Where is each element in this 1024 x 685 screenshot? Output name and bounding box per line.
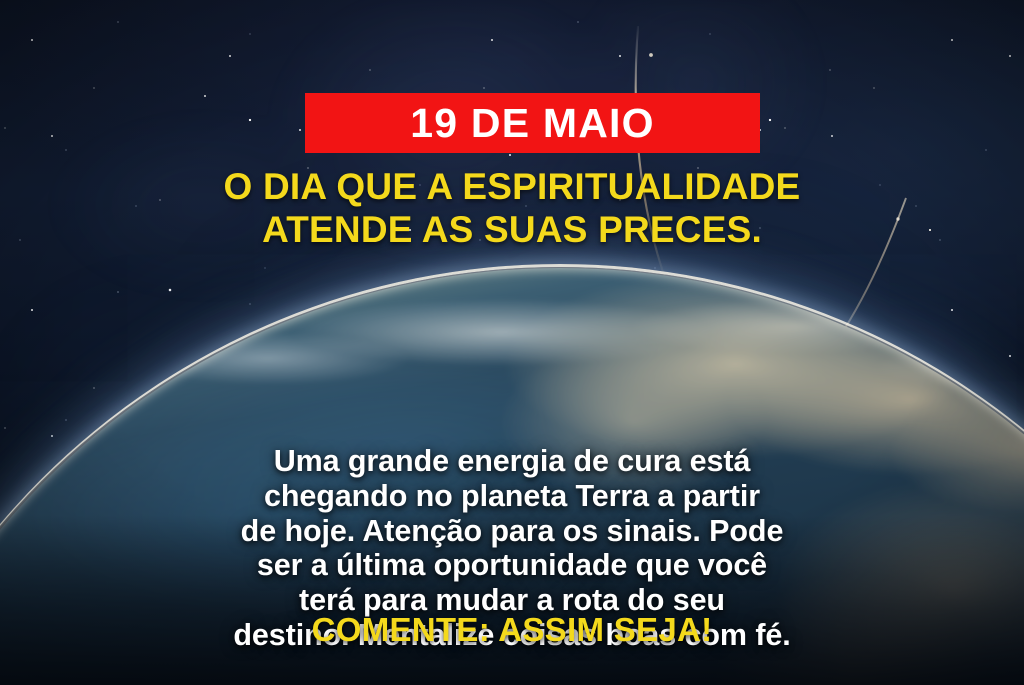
headline: O DIA QUE A ESPIRITUALIDADE ATENDE AS SU… [0,166,1024,251]
date-banner: 19 DE MAIO [305,93,760,153]
body-copy-line-1: Uma grande energia de cura está [34,444,990,479]
body-copy-line-4: ser a última oportunidade que você [34,548,990,583]
body-copy-line-2: chegando no planeta Terra a partir [34,479,990,514]
cta-text: COMENTE: ASSIM SEJA! [0,612,1024,648]
date-banner-label: 19 DE MAIO [410,103,654,144]
headline-line-2: ATENDE AS SUAS PRECES. [0,209,1024,252]
headline-line-1: O DIA QUE A ESPIRITUALIDADE [0,166,1024,209]
body-copy-line-3: de hoje. Atenção para os sinais. Pode [34,514,990,549]
poster-content: 19 DE MAIO O DIA QUE A ESPIRITUALIDADE A… [0,0,1024,685]
poster-canvas: 19 DE MAIO O DIA QUE A ESPIRITUALIDADE A… [0,0,1024,685]
